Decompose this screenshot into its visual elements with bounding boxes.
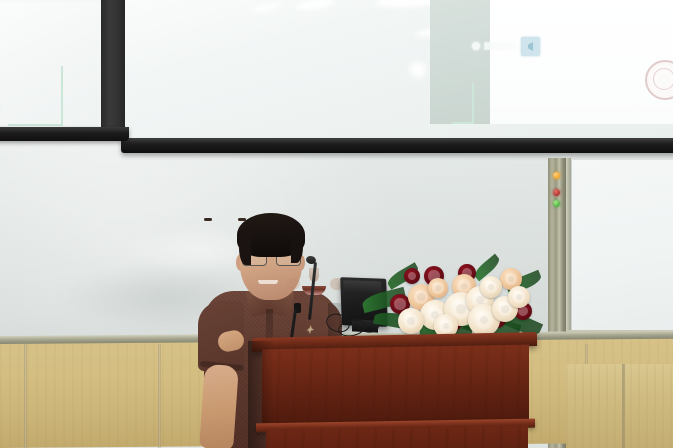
cream-rose [508,286,530,308]
slide-side-panel [430,0,490,124]
flower-arrangement [368,262,538,340]
slide-marker-horizontal [452,122,474,124]
whiteboard [571,160,673,345]
slide-back-chip[interactable] [521,37,540,56]
left-screen-marker-horizontal [8,124,63,126]
speaker-podium [252,335,537,448]
cream-rose [398,308,424,334]
projected-slide: 中 [430,0,673,124]
lecture-hall-photo: 中 [0,0,673,448]
left-projection-screen [0,0,108,131]
slide-bullet-label [484,42,520,50]
dark-red-rose [404,268,420,284]
podium-base-panel [266,426,528,448]
podium-front-panel [262,345,529,427]
indicator-light-green [553,200,560,207]
chevron-left-icon [528,42,533,51]
indicator-light-red [553,189,560,196]
slide-bullet-icon [472,42,480,50]
cream-rose [480,276,502,298]
panel-seam [158,344,161,448]
left-screen-marker-vertical [61,66,63,126]
left-screen-bottom-bar [0,127,129,141]
wood-paneling-right [566,364,673,448]
face-teeth [258,280,278,284]
light-reflection [251,1,282,14]
light-reflection [295,0,336,12]
slide-marker-vertical [472,83,474,124]
panel-seam [622,364,625,448]
presenter-hair [237,213,305,257]
face-cheek-left [286,278,300,290]
seal-icon [645,60,673,100]
main-screen-bottom-bar [121,138,673,153]
panel-seam [24,344,27,448]
screen-divider-column [101,0,125,132]
indicator-light-amber [553,172,560,179]
slide-institution-logo: 中 [637,56,673,100]
light-reflection-spot [410,62,426,78]
main-projection-screen: 中 [125,0,673,141]
face-eye-left [204,218,212,221]
peach-rose [428,278,448,298]
presenter-arm-left [199,364,239,448]
